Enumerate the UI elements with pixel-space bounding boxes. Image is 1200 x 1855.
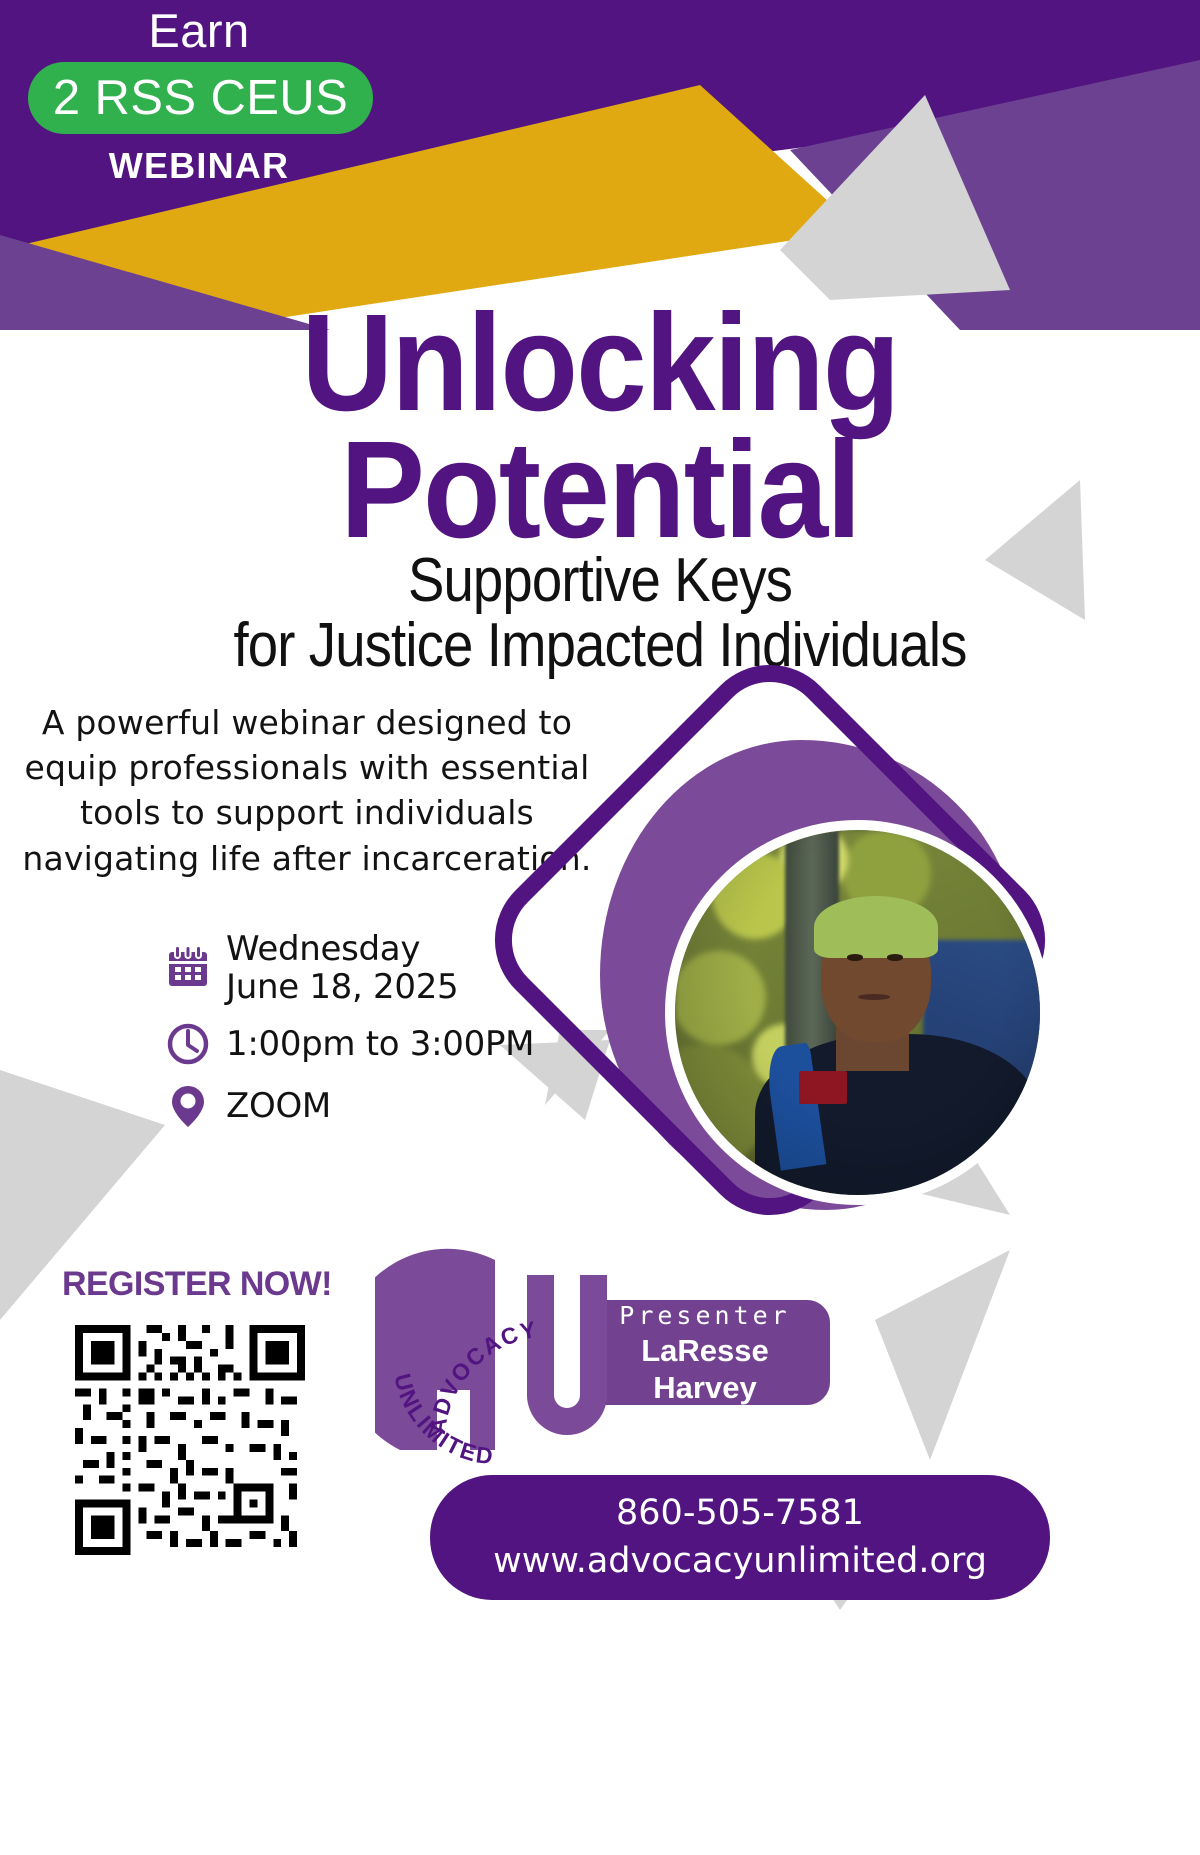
date-line-1: Wednesday <box>226 930 458 968</box>
detail-row-time: 1:00pm to 3:00PM <box>160 1020 590 1068</box>
avatar <box>665 820 1050 1205</box>
qr-code[interactable] <box>75 1325 305 1555</box>
page-subtitle: Supportive Keys for Justice Impacted Ind… <box>72 548 1128 678</box>
logo-letter-u <box>527 1275 607 1435</box>
gray-triangle-lower <box>875 1250 1010 1460</box>
register-now-label: REGISTER NOW! <box>62 1265 362 1304</box>
description-text: A powerful webinar designed to equip pro… <box>22 700 592 881</box>
detail-text-time: 1:00pm to 3:00PM <box>216 1025 534 1063</box>
subtitle-line-2: for Justice Impacted Individuals <box>72 613 1128 678</box>
webinar-flyer: Earn 2 RSS CEUS WEBINAR Unlocking Potent… <box>0 0 1200 1855</box>
time-line-1: 1:00pm to 3:00PM <box>226 1025 534 1063</box>
ceu-badge: 2 RSS CEUS <box>28 62 373 134</box>
webinar-kicker: WEBINAR <box>34 145 364 187</box>
detail-text-location: ZOOM <box>216 1087 331 1125</box>
calendar-icon <box>160 944 216 992</box>
advocacy-unlimited-logo: ADVOCACY UNLIMITED <box>375 1245 665 1475</box>
earn-label: Earn <box>34 6 364 55</box>
detail-text-date: Wednesday June 18, 2025 <box>216 930 458 1006</box>
contact-bar: 860-505-7581 www.advocacyunlimited.org <box>430 1475 1050 1600</box>
detail-row-location: ZOOM <box>160 1082 590 1130</box>
page-title: Unlocking Potential <box>48 300 1152 554</box>
presenter-portrait-image <box>675 830 1040 1195</box>
title-line-2: Potential <box>48 427 1152 554</box>
phone-number[interactable]: 860-505-7581 <box>430 1490 1050 1537</box>
date-line-2: June 18, 2025 <box>226 968 458 1006</box>
clock-icon <box>160 1020 216 1068</box>
location-line-1: ZOOM <box>226 1087 331 1125</box>
website-url[interactable]: www.advocacyunlimited.org <box>430 1538 1050 1585</box>
location-pin-icon <box>160 1082 216 1130</box>
title-line-1: Unlocking <box>48 300 1152 427</box>
detail-row-date: Wednesday June 18, 2025 <box>160 930 590 1006</box>
event-details-list: Wednesday June 18, 2025 1:00pm to 3:00PM <box>160 930 590 1144</box>
subtitle-line-1: Supportive Keys <box>72 548 1128 613</box>
presenter-photo-cluster <box>520 700 1080 1280</box>
portrait-vignette <box>675 830 1040 1195</box>
